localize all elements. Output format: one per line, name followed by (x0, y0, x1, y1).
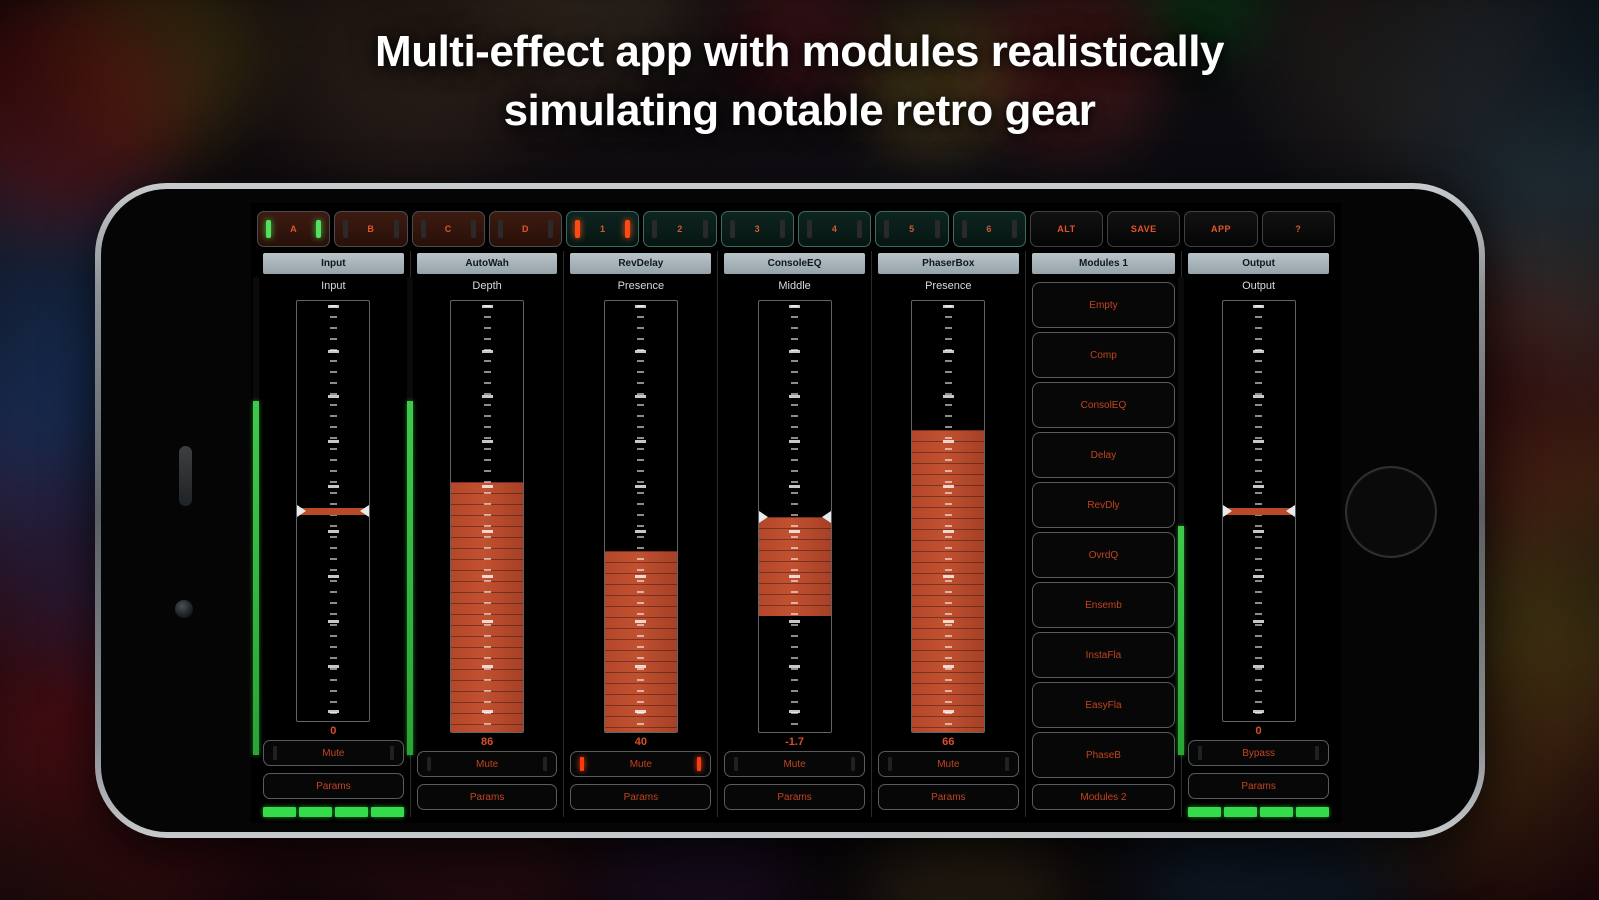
mute-led-right (697, 757, 701, 771)
module-header[interactable]: RevDelay (570, 253, 711, 274)
channel-strip-consoleeq: ConsoleEQMiddle-1.7MuteParams (718, 251, 872, 817)
fader-major-tick-marks (482, 305, 493, 728)
params-button[interactable]: Params (724, 784, 865, 810)
mute-button-label: Mute (322, 748, 344, 759)
module-list: EmptyCompConsolEQDelayRevDlyOvrdQEnsembI… (1032, 274, 1176, 778)
vertical-fader[interactable] (758, 300, 832, 733)
mute-button[interactable]: Mute (417, 751, 558, 777)
preset-button-label: ? (1295, 224, 1301, 234)
bypass-led-left (1198, 746, 1202, 760)
mute-button-label: Mute (476, 759, 498, 770)
params-button[interactable]: Params (263, 773, 404, 799)
led-segment (1188, 807, 1221, 817)
mute-led-left (580, 757, 584, 771)
preset-button-label: 5 (909, 224, 915, 234)
preset-led-right (471, 220, 476, 238)
preset-button-?[interactable]: ? (1262, 211, 1335, 247)
preset-led-left (962, 220, 967, 238)
front-camera-icon (175, 600, 193, 618)
params-button[interactable]: Params (1188, 773, 1329, 799)
fader-handle-arrow-left[interactable] (1223, 505, 1232, 517)
mute-button-label: Mute (630, 759, 652, 770)
module-list-strip: Modules 1EmptyCompConsolEQDelayRevDlyOvr… (1026, 251, 1183, 817)
fader-area (263, 300, 404, 722)
bypass-button-label: Bypass (1242, 748, 1275, 759)
preset-button-label: SAVE (1131, 224, 1157, 234)
preset-led-left (266, 220, 271, 238)
preset-button-1[interactable]: 1 (566, 211, 639, 247)
mute-button[interactable]: Mute (878, 751, 1019, 777)
modules-page-2-button[interactable]: Modules 2 (1032, 784, 1176, 810)
preset-led-left (652, 220, 657, 238)
home-button[interactable] (1345, 466, 1437, 558)
preset-led-right (548, 220, 553, 238)
output-level-meter (1178, 277, 1184, 755)
preset-led-right (625, 220, 630, 238)
vertical-fader[interactable] (604, 300, 678, 733)
fader-handle[interactable] (297, 508, 369, 515)
preset-led-right (703, 220, 708, 238)
module-list-item-delay[interactable]: Delay (1032, 432, 1176, 478)
bypass-led-right (1315, 746, 1319, 760)
module-list-item-phaseb[interactable]: PhaseB (1032, 732, 1176, 778)
preset-button-alt[interactable]: ALT (1030, 211, 1103, 247)
preset-led-right (1012, 220, 1017, 238)
preset-button-c[interactable]: C (412, 211, 485, 247)
module-header[interactable]: AutoWah (417, 253, 558, 274)
mute-button-label: Mute (783, 759, 805, 770)
module-list-item-consoleq[interactable]: ConsolEQ (1032, 382, 1176, 428)
preset-button-5[interactable]: 5 (875, 211, 948, 247)
led-segment (1296, 807, 1329, 817)
vertical-fader[interactable] (911, 300, 985, 733)
preset-button-save[interactable]: SAVE (1107, 211, 1180, 247)
phone-device-frame: ABCD123456ALTSAVEAPP? InputInput0MutePar… (95, 183, 1485, 838)
parameter-label: Presence (570, 274, 711, 300)
channel-strip-input: InputInput0MuteParams (257, 251, 411, 817)
params-button[interactable]: Params (570, 784, 711, 810)
preset-led-left (343, 220, 348, 238)
mute-button-label: Mute (937, 759, 959, 770)
preset-led-right (316, 220, 321, 238)
preset-button-label: 6 (986, 224, 992, 234)
preset-led-left (575, 220, 580, 238)
mute-led-left (734, 757, 738, 771)
level-meter-fill (253, 401, 259, 755)
preset-button-label: 3 (755, 224, 761, 234)
phone-bezel: ABCD123456ALTSAVEAPP? InputInput0MutePar… (101, 189, 1479, 832)
led-segment (1224, 807, 1257, 817)
preset-button-label: ALT (1057, 224, 1075, 234)
fader-area (724, 300, 865, 733)
module-strip-row: InputInput0MuteParamsAutoWahDepth86MuteP… (251, 251, 1341, 823)
mute-button[interactable]: Mute (570, 751, 711, 777)
mute-led-left (427, 757, 431, 771)
preset-led-left (884, 220, 889, 238)
fader-handle-arrow-left[interactable] (759, 511, 768, 523)
mute-button[interactable]: Mute (263, 740, 404, 766)
preset-button-3[interactable]: 3 (721, 211, 794, 247)
fader-major-tick-marks (789, 305, 800, 728)
preset-button-label: D (522, 224, 529, 234)
preset-button-app[interactable]: APP (1184, 211, 1257, 247)
preset-led-right (780, 220, 785, 238)
parameter-label: Input (263, 274, 404, 300)
module-list-header[interactable]: Modules 1 (1032, 253, 1176, 274)
parameter-value: 0 (263, 722, 404, 740)
fader-handle[interactable] (1223, 508, 1295, 515)
mute-led-right (1005, 757, 1009, 771)
led-indicator-bar (1188, 807, 1329, 817)
module-list-item-easyfla[interactable]: EasyFla (1032, 682, 1176, 728)
led-segment (371, 807, 404, 817)
params-button[interactable]: Params (878, 784, 1019, 810)
channel-strip-output: OutputOutput0BypassParams (1182, 251, 1335, 817)
fader-area (417, 300, 558, 733)
channel-strip-autowah: AutoWahDepth86MuteParams (411, 251, 565, 817)
headline-line-2: simulating notable retro gear (0, 81, 1599, 140)
preset-led-left (421, 220, 426, 238)
led-segment (1260, 807, 1293, 817)
vertical-fader[interactable] (1222, 300, 1296, 722)
fader-handle-arrow-right[interactable] (360, 505, 369, 517)
preset-button-a[interactable]: A (257, 211, 330, 247)
led-segment (263, 807, 296, 817)
module-header[interactable]: ConsoleEQ (724, 253, 865, 274)
channel-strip-revdelay: RevDelayPresence40MuteParams (564, 251, 718, 817)
module-list-item-ensemb[interactable]: Ensemb (1032, 582, 1176, 628)
module-header[interactable]: Output (1188, 253, 1329, 274)
preset-led-right (857, 220, 862, 238)
preset-led-left (498, 220, 503, 238)
preset-button-label: C (445, 224, 452, 234)
parameter-value: 40 (570, 733, 711, 751)
parameter-value: 0 (1188, 722, 1329, 740)
preset-button-label: B (367, 224, 374, 234)
mute-button[interactable]: Mute (724, 751, 865, 777)
module-list-item-instafla[interactable]: InstaFla (1032, 632, 1176, 678)
vertical-fader[interactable] (450, 300, 524, 733)
preset-button-d[interactable]: D (489, 211, 562, 247)
mute-led-left (888, 757, 892, 771)
level-meter (407, 277, 413, 755)
preset-toolbar: ABCD123456ALTSAVEAPP? (251, 203, 1341, 251)
fader-handle-arrow-right[interactable] (1286, 505, 1295, 517)
fader-area (1188, 300, 1329, 722)
mute-led-right (543, 757, 547, 771)
mute-led-left (273, 746, 277, 760)
channel-strip-phaserbox: PhaserBoxPresence66MuteParams (872, 251, 1026, 817)
level-meter-fill (407, 401, 413, 755)
module-list-item-ovrdq[interactable]: OvrdQ (1032, 532, 1176, 578)
mute-led-right (851, 757, 855, 771)
module-list-item-comp[interactable]: Comp (1032, 332, 1176, 378)
bypass-button[interactable]: Bypass (1188, 740, 1329, 766)
fader-major-tick-marks (943, 305, 954, 728)
earpiece-speaker-icon (179, 446, 192, 506)
preset-button-label: 4 (832, 224, 838, 234)
parameter-value: -1.7 (724, 733, 865, 751)
preset-button-4[interactable]: 4 (798, 211, 871, 247)
params-button[interactable]: Params (417, 784, 558, 810)
preset-button-label: A (290, 224, 297, 234)
parameter-label: Depth (417, 274, 558, 300)
app-screen: ABCD123456ALTSAVEAPP? InputInput0MutePar… (251, 203, 1341, 823)
preset-led-right (935, 220, 940, 238)
module-header[interactable]: PhaserBox (878, 253, 1019, 274)
fader-handle-arrow-left[interactable] (297, 505, 306, 517)
preset-button-2[interactable]: 2 (643, 211, 716, 247)
preset-led-left (807, 220, 812, 238)
fader-area (878, 300, 1019, 733)
fader-handle-arrow-right[interactable] (822, 511, 831, 523)
preset-led-left (730, 220, 735, 238)
parameter-label: Output (1188, 274, 1329, 300)
preset-button-6[interactable]: 6 (953, 211, 1026, 247)
parameter-value: 86 (417, 733, 558, 751)
fader-area (570, 300, 711, 733)
level-meter-fill (1178, 526, 1184, 755)
module-header[interactable]: Input (263, 253, 404, 274)
led-segment (299, 807, 332, 817)
led-indicator-bar (263, 807, 404, 817)
preset-button-label: 2 (677, 224, 683, 234)
preset-button-b[interactable]: B (334, 211, 407, 247)
headline-line-1: Multi-effect app with modules realistica… (0, 22, 1599, 81)
preset-button-label: 1 (600, 224, 606, 234)
parameter-value: 66 (878, 733, 1019, 751)
parameter-label: Presence (878, 274, 1019, 300)
preset-button-label: APP (1211, 224, 1231, 234)
parameter-label: Middle (724, 274, 865, 300)
mute-led-right (390, 746, 394, 760)
led-segment (335, 807, 368, 817)
vertical-fader[interactable] (296, 300, 370, 722)
headline: Multi-effect app with modules realistica… (0, 22, 1599, 141)
level-meter (253, 277, 259, 755)
module-list-item-revdly[interactable]: RevDly (1032, 482, 1176, 528)
preset-led-right (394, 220, 399, 238)
module-list-item-empty[interactable]: Empty (1032, 282, 1176, 328)
fader-major-tick-marks (635, 305, 646, 728)
